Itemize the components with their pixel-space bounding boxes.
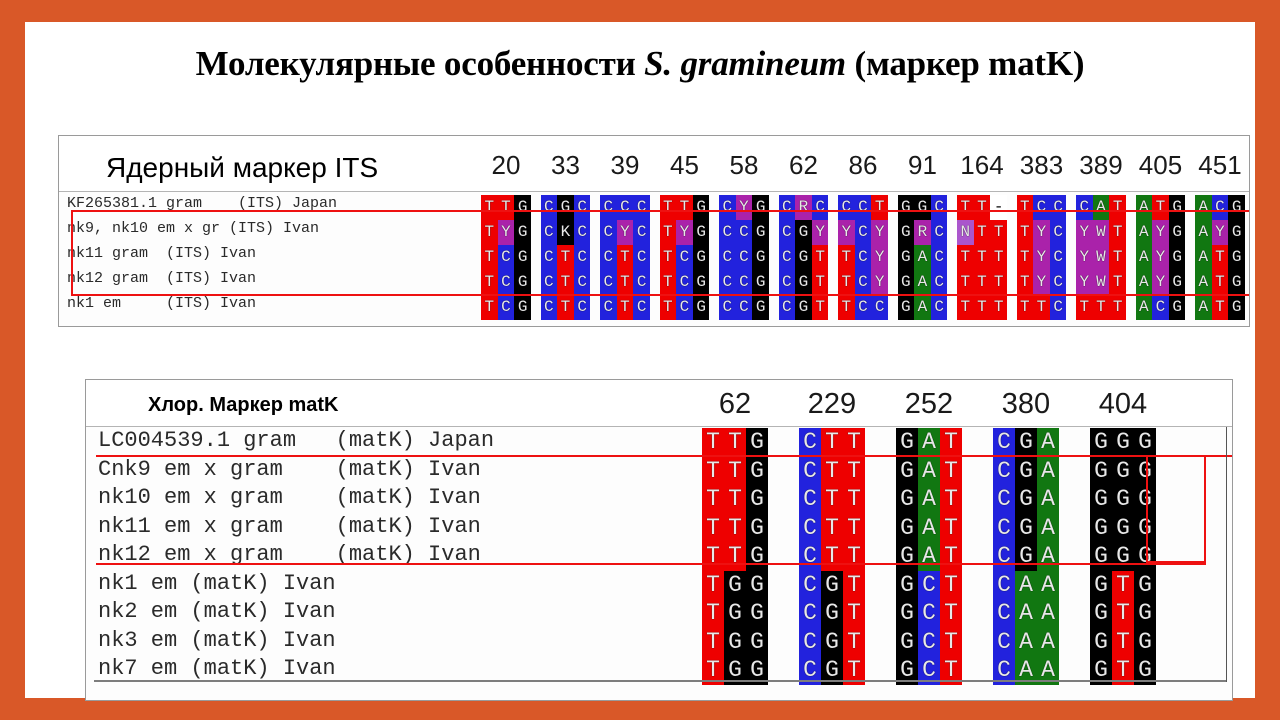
nucleotide-C: C (799, 485, 821, 514)
column-header-20: 20 (481, 150, 531, 181)
nucleotide-T: T (1017, 270, 1034, 295)
nucleotide-C: C (1050, 270, 1067, 295)
nucleotide-T: T (871, 195, 888, 220)
nucleotide-T: T (481, 270, 498, 295)
nucleotide-A: A (1195, 245, 1212, 270)
sequence-cell: CCG (719, 295, 769, 320)
nucleotide-T: T (940, 485, 962, 514)
nucleotide-A: A (1015, 628, 1037, 657)
nucleotide-T: T (1109, 220, 1126, 245)
nucleotide-T: T (843, 457, 865, 486)
nucleotide-T: T (724, 542, 746, 571)
nucleotide-C: C (719, 220, 736, 245)
nucleotide-G: G (795, 245, 812, 270)
nucleotide-C: C (838, 195, 855, 220)
nucleotide-C: C (574, 295, 591, 320)
nucleotide-T: T (812, 245, 829, 270)
nucleotide-A: A (1037, 599, 1059, 628)
nucleotide-A: A (1195, 195, 1212, 220)
nucleotide-T: T (1212, 270, 1229, 295)
nucleotide-G: G (746, 628, 768, 657)
sequence-row-label: KF265381.1 gram (ITS) Japan (67, 195, 337, 212)
sequence-cell: TYC (1017, 220, 1067, 245)
column-header-451: 451 (1195, 150, 1245, 181)
nucleotide-A: A (1136, 195, 1153, 220)
nucleotide-G: G (1015, 514, 1037, 543)
nucleotide-T: T (940, 628, 962, 657)
sequence-cell: TTG (702, 457, 768, 486)
nucleotide-G: G (1169, 270, 1186, 295)
nucleotide-G: G (752, 270, 769, 295)
nucleotide-T: T (1109, 245, 1126, 270)
sequence-row-label: nk7 em (matK) Ivan (98, 656, 336, 681)
nucleotide-A: A (1195, 220, 1212, 245)
nucleotide-T: T (724, 485, 746, 514)
nucleotide-Y: Y (1152, 220, 1169, 245)
nucleotide-T: T (821, 514, 843, 543)
nucleotide-T: T (838, 245, 855, 270)
nucleotide-C: C (855, 195, 872, 220)
nucleotide-G: G (1015, 457, 1037, 486)
slide-canvas: Молекулярные особенности S. gramineum (м… (25, 22, 1255, 698)
nucleotide-C: C (676, 245, 693, 270)
nucleotide-A: A (1037, 485, 1059, 514)
nucleotide-T: T (843, 485, 865, 514)
sequence-cell: TGG (702, 628, 768, 657)
sequence-cell: CCC (600, 195, 650, 220)
nucleotide-C: C (871, 295, 888, 320)
nucleotide-T: T (660, 270, 677, 295)
nucleotide-T: T (957, 245, 974, 270)
sequence-row-label: LC004539.1 gram (matK) Japan (98, 428, 494, 453)
nucleotide-T: T (1076, 295, 1093, 320)
nucleotide-G: G (514, 220, 531, 245)
nucleotide-T: T (957, 270, 974, 295)
sequence-row-label: nk12 gram (ITS) Ivan (67, 270, 256, 287)
nucleotide-T: T (481, 220, 498, 245)
nucleotide-T: T (1109, 270, 1126, 295)
sequence-cell: CTC (600, 270, 650, 295)
nucleotide-Y: Y (1033, 245, 1050, 270)
sequence-cell: CTC (600, 295, 650, 320)
nucleotide-T: T (702, 485, 724, 514)
nucleotide-C: C (799, 599, 821, 628)
sequence-cell: GCT (896, 571, 962, 600)
nucleotide-T: T (957, 195, 974, 220)
sequence-cell: CRC (779, 195, 829, 220)
nucleotide-C: C (574, 220, 591, 245)
nucleotide-A: A (1136, 295, 1153, 320)
nucleotide-A: A (1195, 295, 1212, 320)
nucleotide-T: T (702, 457, 724, 486)
nucleotide-C: C (498, 245, 515, 270)
nucleotide-C: C (600, 270, 617, 295)
nucleotide-T: T (1109, 195, 1126, 220)
nucleotide-T: T (1033, 295, 1050, 320)
nucleotide-C: C (779, 270, 796, 295)
nucleotide-G: G (1228, 295, 1245, 320)
nucleotide-G: G (724, 571, 746, 600)
sequence-cell: TGG (702, 571, 768, 600)
nucleotide-G: G (898, 195, 915, 220)
sequence-cell: AYG (1195, 220, 1245, 245)
nucleotide-C: C (993, 599, 1015, 628)
sequence-cell: TYC (1017, 270, 1067, 295)
sequence-cell: TCG (660, 270, 710, 295)
sequence-cell: CTT (799, 428, 865, 457)
column-header-58: 58 (719, 150, 769, 181)
nucleotide-A: A (1037, 457, 1059, 486)
nucleotide-C: C (799, 428, 821, 457)
nucleotide-T: T (821, 485, 843, 514)
nucleotide-G: G (898, 295, 915, 320)
sequence-cell: CGT (779, 270, 829, 295)
sequence-cell: TTG (702, 542, 768, 571)
nucleotide-G: G (795, 270, 812, 295)
nucleotide-C: C (736, 220, 753, 245)
column-header-45: 45 (660, 150, 710, 181)
sequence-cell: TCG (481, 270, 531, 295)
sequence-cell: GAC (898, 270, 948, 295)
nucleotide-T: T (974, 270, 991, 295)
nucleotide-C: C (633, 295, 650, 320)
nucleotide-T: T (990, 295, 1007, 320)
column-header-62: 62 (779, 150, 829, 181)
column-header-91: 91 (898, 150, 948, 181)
sequence-cell: GAT (896, 542, 962, 571)
nucleotide-C: C (1212, 195, 1229, 220)
nucleotide-G: G (746, 514, 768, 543)
nucleotide-G: G (795, 295, 812, 320)
sequence-cell: GAC (898, 295, 948, 320)
nucleotide-C: C (918, 628, 940, 657)
nucleotide-W: W (1093, 270, 1110, 295)
nucleotide-C: C (617, 195, 634, 220)
nucleotide-G: G (693, 195, 710, 220)
nucleotide-C: C (799, 628, 821, 657)
title-species: S. gramineum (644, 44, 846, 83)
nucleotide-G: G (821, 571, 843, 600)
sequence-cell: GGG (1090, 542, 1156, 571)
sequence-cell: GRC (898, 220, 948, 245)
nucleotide-C: C (498, 295, 515, 320)
nucleotide-T: T (1112, 599, 1134, 628)
nucleotide-Y: Y (1152, 245, 1169, 270)
nucleotide-A: A (914, 245, 931, 270)
sequence-cell: ATG (1195, 270, 1245, 295)
sequence-row-label: nk1 em (ITS) Ivan (67, 295, 256, 312)
nucleotide-G: G (746, 599, 768, 628)
sequence-cell: CGT (779, 245, 829, 270)
nucleotide-A: A (914, 295, 931, 320)
nucleotide-Y: Y (812, 220, 829, 245)
sequence-row-label: nk11 gram (ITS) Ivan (67, 245, 256, 262)
column-header-252: 252 (896, 388, 962, 421)
sequence-cell: TTG (702, 428, 768, 457)
sequence-cell: CGC (541, 195, 591, 220)
sequence-cell: GGC (898, 195, 948, 220)
nucleotide-T: T (821, 428, 843, 457)
nucleotide-G: G (1134, 457, 1156, 486)
nucleotide-A: A (918, 457, 940, 486)
sequence-cell: TYG (481, 220, 531, 245)
matk-top-divider-line (96, 455, 1233, 457)
nucleotide-Y: Y (871, 245, 888, 270)
sequence-row-label: nk10 em x gram (matK) Ivan (98, 485, 481, 510)
nucleotide-T: T (940, 542, 962, 571)
sequence-cell: GTG (1090, 599, 1156, 628)
sequence-cell: ACG (1136, 295, 1186, 320)
nucleotide-C: C (779, 295, 796, 320)
nucleotide-T: T (498, 195, 515, 220)
nucleotide-T: T (940, 514, 962, 543)
nucleotide-A: A (1093, 195, 1110, 220)
nucleotide-C: C (574, 270, 591, 295)
title-suffix: (маркер matK) (846, 44, 1084, 83)
sequence-cell: TTT (1076, 295, 1126, 320)
nucleotide-T: T (812, 295, 829, 320)
column-header-39: 39 (600, 150, 650, 181)
nucleotide-G: G (752, 295, 769, 320)
nucleotide-C: C (633, 220, 650, 245)
sequence-cell: CTT (799, 485, 865, 514)
nucleotide-G: G (1015, 485, 1037, 514)
sequence-row-label: nk3 em (matK) Ivan (98, 628, 336, 653)
nucleotide-T: T (617, 245, 634, 270)
nucleotide-T: T (843, 542, 865, 571)
nucleotide-Y: Y (1033, 220, 1050, 245)
nucleotide-C: C (799, 571, 821, 600)
nucleotide-G: G (693, 270, 710, 295)
nucleotide-G: G (896, 457, 918, 486)
nucleotide-Y: Y (871, 270, 888, 295)
sequence-cell: TTT (957, 270, 1007, 295)
nucleotide-W: W (1093, 245, 1110, 270)
nucleotide-G: G (1015, 542, 1037, 571)
nucleotide-C: C (931, 245, 948, 270)
nucleotide-C: C (993, 485, 1015, 514)
sequence-cell: CGT (799, 628, 865, 657)
sequence-cell: YCY (838, 220, 888, 245)
sequence-cell: CGA (993, 428, 1059, 457)
nucleotide-G: G (1112, 542, 1134, 571)
nucleotide-T: T (1017, 220, 1034, 245)
nucleotide-C: C (993, 514, 1015, 543)
nucleotide-T: T (724, 457, 746, 486)
sequence-cell: TTT (957, 295, 1007, 320)
nucleotide-G: G (1090, 485, 1112, 514)
nucleotide-C: C (719, 295, 736, 320)
nucleotide-G: G (1090, 514, 1112, 543)
nucleotide-G: G (1090, 599, 1112, 628)
sequence-cell: TTC (1017, 295, 1067, 320)
nucleotide-T: T (990, 245, 1007, 270)
nucleotide-T: T (812, 270, 829, 295)
sequence-cell: CAA (993, 628, 1059, 657)
sequence-cell: CCG (719, 220, 769, 245)
sequence-cell: AYG (1136, 270, 1186, 295)
nucleotide-C: C (799, 457, 821, 486)
nucleotide-T: T (821, 542, 843, 571)
column-header-405: 405 (1136, 150, 1186, 181)
nucleotide-T: T (557, 270, 574, 295)
nucleotide-C: C (855, 245, 872, 270)
nucleotide-Y: Y (498, 220, 515, 245)
nucleotide-T: T (974, 295, 991, 320)
nucleotide-C: C (541, 195, 558, 220)
nucleotide-C: C (855, 270, 872, 295)
nucleotide-C: C (855, 220, 872, 245)
column-header-229: 229 (799, 388, 865, 421)
title-prefix: Молекулярные особенности (196, 44, 644, 83)
nucleotide-C: C (633, 195, 650, 220)
column-header-383: 383 (1017, 150, 1067, 181)
nucleotide-A: A (1195, 270, 1212, 295)
nucleotide-G: G (1015, 428, 1037, 457)
nucleotide-C: C (799, 514, 821, 543)
nucleotide-T: T (838, 295, 855, 320)
nucleotide-G: G (795, 220, 812, 245)
nucleotide-C: C (736, 270, 753, 295)
nucleotide-T: T (1017, 195, 1034, 220)
sequence-cell: TCY (838, 245, 888, 270)
nucleotide-G: G (724, 628, 746, 657)
nucleotide-G: G (896, 428, 918, 457)
sequence-cell: CTC (600, 245, 650, 270)
sequence-cell: GGG (1090, 428, 1156, 457)
sequence-cell: TTG (660, 195, 710, 220)
matk-bottom-rule (94, 680, 1226, 682)
matk-right-rule (1226, 427, 1227, 682)
nucleotide-R: R (795, 195, 812, 220)
nucleotide-C: C (931, 195, 948, 220)
nucleotide-T: T (843, 428, 865, 457)
nucleotide-G: G (1090, 571, 1112, 600)
nucleotide-T: T (1109, 295, 1126, 320)
nucleotide-C: C (993, 571, 1015, 600)
nucleotide-C: C (779, 220, 796, 245)
sequence-cell: GCT (896, 599, 962, 628)
sequence-cell: ATG (1136, 195, 1186, 220)
its-panel-title: Ядерный маркер ITS (106, 152, 378, 184)
nucleotide-G: G (914, 195, 931, 220)
nucleotide-G: G (746, 571, 768, 600)
sequence-cell: TGG (702, 599, 768, 628)
sequence-cell: TCG (660, 295, 710, 320)
nucleotide-T: T (957, 295, 974, 320)
nucleotide-C: C (931, 295, 948, 320)
sequence-cell: GAC (898, 245, 948, 270)
nucleotide-G: G (896, 485, 918, 514)
column-header-86: 86 (838, 150, 888, 181)
nucleotide-C: C (993, 542, 1015, 571)
nucleotide-T: T (481, 295, 498, 320)
nucleotide-C: C (812, 195, 829, 220)
sequence-cell: TTT (957, 245, 1007, 270)
nucleotide-T: T (660, 295, 677, 320)
nucleotide-A: A (1015, 571, 1037, 600)
nucleotide-C: C (600, 220, 617, 245)
sequence-cell: CYG (719, 195, 769, 220)
nucleotide-Y: Y (1076, 220, 1093, 245)
nucleotide-T: T (1212, 295, 1229, 320)
nucleotide-T: T (702, 514, 724, 543)
column-header-164: 164 (957, 150, 1007, 181)
nucleotide-G: G (1169, 195, 1186, 220)
nucleotide-T: T (702, 428, 724, 457)
nucleotide-G: G (1134, 628, 1156, 657)
sequence-cell: GTG (1090, 571, 1156, 600)
nucleotide-G: G (1090, 628, 1112, 657)
nucleotide-C: C (600, 295, 617, 320)
sequence-row-label: nk11 em x gram (matK) Ivan (98, 514, 481, 539)
nucleotide-C: C (1050, 195, 1067, 220)
nucleotide-T: T (940, 428, 962, 457)
nucleotide-G: G (1228, 195, 1245, 220)
nucleotide-C: C (993, 628, 1015, 657)
nucleotide-R: R (914, 220, 931, 245)
nucleotide-A: A (1037, 428, 1059, 457)
nucleotide-A: A (918, 514, 940, 543)
sequence-cell: CTT (799, 542, 865, 571)
nucleotide-C: C (541, 245, 558, 270)
nucleotide-gap: - (990, 195, 1007, 220)
nucleotide-T: T (940, 571, 962, 600)
nucleotide-G: G (693, 220, 710, 245)
nucleotide-A: A (914, 270, 931, 295)
nucleotide-C: C (1050, 295, 1067, 320)
nucleotide-T: T (1112, 628, 1134, 657)
nucleotide-A: A (1136, 270, 1153, 295)
sequence-cell: GCT (896, 628, 962, 657)
nucleotide-A: A (1037, 628, 1059, 657)
sequence-cell: ATG (1195, 245, 1245, 270)
nucleotide-T: T (1152, 195, 1169, 220)
nucleotide-G: G (514, 295, 531, 320)
nucleotide-T: T (481, 245, 498, 270)
sequence-cell: YWT (1076, 270, 1126, 295)
sequence-cell: CAA (993, 571, 1059, 600)
sequence-cell: CGA (993, 457, 1059, 486)
nucleotide-G: G (821, 599, 843, 628)
sequence-cell: AYG (1136, 245, 1186, 270)
nucleotide-G: G (1134, 599, 1156, 628)
nucleotide-C: C (541, 220, 558, 245)
nucleotide-C: C (736, 245, 753, 270)
nucleotide-G: G (1169, 245, 1186, 270)
nucleotide-G: G (896, 514, 918, 543)
sequence-cell: CTC (541, 295, 591, 320)
nucleotide-T: T (843, 571, 865, 600)
nucleotide-T: T (481, 195, 498, 220)
sequence-cell: CTT (799, 514, 865, 543)
sequence-row-label: nk9, nk10 em x gr (ITS) Ivan (67, 220, 319, 237)
nucleotide-G: G (746, 457, 768, 486)
nucleotide-T: T (660, 220, 677, 245)
nucleotide-C: C (779, 245, 796, 270)
sequence-cell: CCG (719, 270, 769, 295)
nucleotide-G: G (1134, 514, 1156, 543)
nucleotide-G: G (693, 245, 710, 270)
sequence-row-label: Cnk9 em x gram (matK) Ivan (98, 457, 481, 482)
sequence-cell: YWT (1076, 220, 1126, 245)
its-alignment-panel: Ядерный маркер ITS 203339455862869116438… (58, 135, 1250, 327)
nucleotide-G: G (1112, 428, 1134, 457)
nucleotide-C: C (931, 220, 948, 245)
sequence-cell: TYC (1017, 245, 1067, 270)
nucleotide-Y: Y (1212, 220, 1229, 245)
nucleotide-A: A (1037, 571, 1059, 600)
